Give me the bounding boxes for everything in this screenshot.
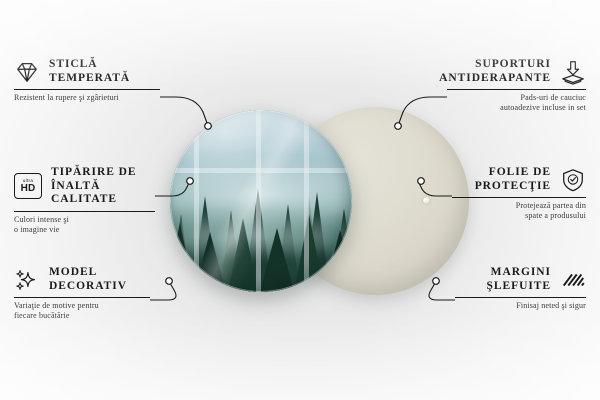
divider: [14, 89, 160, 90]
tree: [324, 230, 352, 292]
feature-margini-slefuite[interactable]: MARGINI ŞLEFUITE Finisaj neted şi sigur: [455, 266, 586, 311]
feature-tiparire-inalta-calitate[interactable]: ultra HD TIPĂRIRE DE ÎNALTĂ CALITATE Cul…: [14, 166, 155, 235]
infographic-canvas: STICLĂ TEMPERATĂ Rezistent la rupere şi …: [0, 0, 600, 400]
feature-desc: Variaţie de motive pentru fiecare bucătă…: [14, 301, 150, 321]
window-mullion: [194, 110, 199, 292]
feature-model-decorativ[interactable]: MODEL DECORATIV Variaţie de motive pentr…: [14, 266, 150, 321]
ultra-hd-icon: ultra HD: [14, 173, 42, 199]
feature-desc: Rezistent la rupere şi zgârieturi: [14, 93, 160, 103]
divider: [447, 89, 586, 90]
tree: [294, 214, 324, 292]
divider: [14, 211, 155, 212]
rubber-pad: [423, 197, 430, 204]
divider: [14, 297, 150, 298]
tree: [170, 222, 194, 292]
feature-desc: Pads-uri de cauciuc autoadezive incluse …: [447, 93, 586, 113]
hatch-lines-icon: [560, 267, 586, 293]
feature-desc: Finisaj neted şi sigur: [455, 301, 586, 311]
divider: [455, 297, 586, 298]
diamond-icon: [14, 59, 40, 85]
window-mullion: [170, 168, 352, 173]
feature-desc: Culori intense şi o imagine vie: [14, 215, 155, 235]
ultra-hd-icon-main-label: HD: [21, 184, 36, 194]
press-pad-icon: [560, 59, 586, 85]
sparkles-icon: [14, 267, 40, 293]
feature-sticla-temperata[interactable]: STICLĂ TEMPERATĂ Rezistent la rupere şi …: [14, 58, 160, 103]
shield-check-icon: [560, 167, 586, 193]
feature-title: TIPĂRIRE DE ÎNALTĂ CALITATE: [51, 166, 155, 207]
window-mullion: [304, 110, 309, 292]
feature-title: FOLIE DE PROTECŢIE: [475, 166, 551, 193]
feature-title: MARGINI ŞLEFUITE: [487, 266, 551, 293]
window-mullion: [256, 110, 261, 292]
divider: [452, 197, 586, 198]
front-disc: [170, 110, 352, 292]
feature-desc: Protejează partea din spate a produsului: [452, 201, 586, 221]
feature-title: STICLĂ TEMPERATĂ: [49, 58, 130, 85]
feature-folie-de-protectie[interactable]: FOLIE DE PROTECŢIE Protejează partea din…: [452, 166, 586, 221]
tree: [260, 228, 294, 292]
tree: [228, 218, 258, 292]
feature-suporturi-antiderapante[interactable]: SUPORTURI ANTIDERAPANTE Pads-uri de cauc…: [447, 58, 586, 113]
feature-title: SUPORTURI ANTIDERAPANTE: [439, 58, 551, 85]
feature-title: MODEL DECORATIV: [49, 266, 127, 293]
forest-print: [170, 110, 352, 292]
